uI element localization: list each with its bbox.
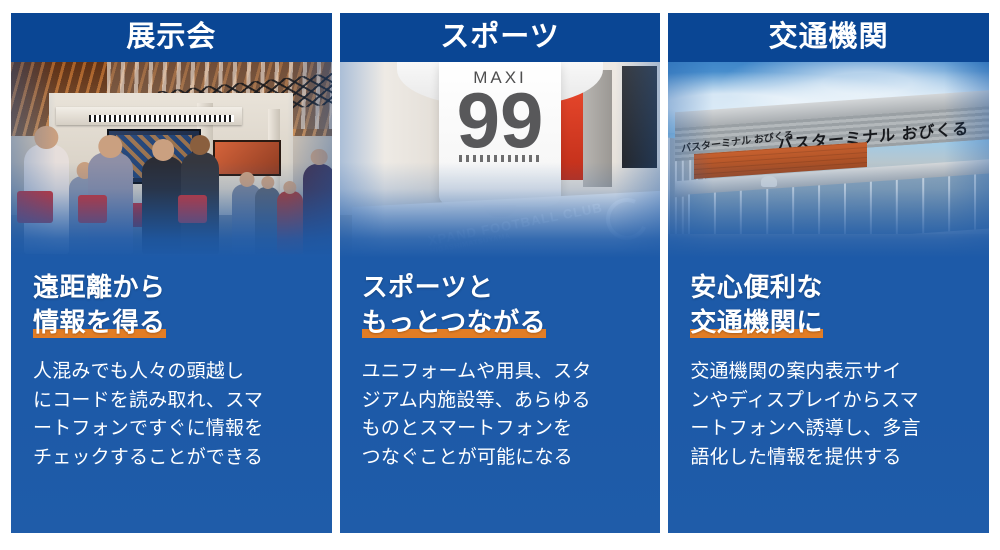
hall-visitor-head: [239, 172, 254, 187]
headline-line-highlighted: 交通機関に: [690, 307, 823, 338]
headline-line: 安心便利な: [690, 270, 967, 305]
description-line: 人混みでも人々の頭越し: [33, 358, 310, 387]
hall-visitor: [303, 164, 332, 254]
hall-display-screen-secondary: [213, 140, 281, 175]
description-line: にコードを読み取れ、スマ: [33, 387, 310, 416]
terminal-lamp-icon: [761, 176, 777, 187]
description-line: ンやディスプレイからスマ: [690, 387, 967, 416]
description-line: ートフォンへ誘導し、多言: [690, 415, 967, 444]
card-headline: 遠距離から 情報を得る: [33, 270, 310, 340]
card-header-transportation: 交通機関: [668, 13, 989, 62]
description-line: ユニフォームや用具、スタ: [362, 358, 639, 387]
card-title: 展示会: [126, 23, 216, 52]
card-description: 人混みでも人々の頭越し にコードを読み取れ、スマ ートフォンですぐに情報を チェ…: [33, 358, 310, 474]
description-line: 語化した情報を提供する: [690, 444, 967, 473]
headline-line: スポーツと: [362, 270, 639, 305]
feature-card-sports[interactable]: スポーツ MAXI 99 XPAND FOOTBALL CLUB HIGASHI…: [340, 13, 661, 533]
card-description: 交通機関の案内表示サイ ンやディスプレイからスマ ートフォンへ誘導し、多言 語化…: [690, 358, 967, 474]
card-title: 交通機関: [769, 23, 889, 52]
hall-gate-sign: [56, 107, 242, 125]
description-line: 交通機関の案内表示サイ: [690, 358, 967, 387]
hall-visitor: [277, 191, 303, 254]
card-photo-transportation: バスターミナル おびくる バスターミナル おびくる: [668, 62, 989, 258]
terminal-pavement: [668, 234, 989, 258]
hall-visitor-head: [35, 126, 58, 149]
card-body-exhibition: 遠距離から 情報を得る 人混みでも人々の頭越し にコードを読み取れ、スマ ートフ…: [11, 258, 332, 533]
card-description: ユニフォームや用具、スタ ジアム内施設等、あらゆる ものとスマートフォンを つな…: [362, 358, 639, 474]
card-header-exhibition: 展示会: [11, 13, 332, 62]
headline-line-highlighted: 情報を得る: [33, 307, 166, 338]
headline-line-highlighted: もっとつながる: [362, 307, 546, 338]
football-jersey-illustration: MAXI 99 XPAND FOOTBALL CLUB HIGASHIMATSU…: [340, 62, 661, 258]
description-line: つなぐことが可能になる: [362, 444, 639, 473]
jersey-display-case: [622, 66, 657, 168]
description-line: ジアム内施設等、あらゆる: [362, 387, 639, 416]
headline-line: 遠距離から: [33, 270, 310, 305]
hall-visitor-head: [310, 149, 327, 166]
card-headline: スポーツと もっとつながる: [362, 270, 639, 340]
card-header-sports: スポーツ: [340, 13, 661, 62]
description-line: ものとスマートフォンを: [362, 415, 639, 444]
card-title: スポーツ: [440, 23, 559, 52]
jersey-shirt: MAXI 99: [439, 62, 561, 207]
feature-card-exhibition[interactable]: 展示会: [11, 13, 332, 533]
exhibition-hall-illustration: [11, 62, 332, 258]
hall-visitor-bag: [178, 195, 207, 222]
jersey-number-label: 99: [439, 81, 561, 159]
hall-visitor-bag: [17, 191, 52, 222]
card-body-transportation: 安心便利な 交通機関に 交通機関の案内表示サイ ンやディスプレイからスマ ートフ…: [668, 258, 989, 533]
bus-terminal-illustration: バスターミナル おびくる バスターミナル おびくる: [668, 62, 989, 258]
hall-visitor-bag: [78, 195, 107, 222]
card-photo-exhibition: [11, 62, 332, 258]
hall-visitor-head: [261, 176, 274, 189]
card-body-sports: スポーツと もっとつながる ユニフォームや用具、スタ ジアム内施設等、あらゆる …: [340, 258, 661, 533]
card-headline: 安心便利な 交通機関に: [690, 270, 967, 340]
hall-visitor-head: [99, 135, 122, 158]
hall-visitor-head: [152, 139, 174, 161]
description-line: チェックすることができる: [33, 444, 310, 473]
feature-card-transportation[interactable]: 交通機関 バスターミナル おびくる バスターミナル おびくる 安心便利な: [668, 13, 989, 533]
hall-visitor-head: [283, 181, 296, 194]
card-photo-sports: MAXI 99 XPAND FOOTBALL CLUB HIGASHIMATSU…: [340, 62, 661, 258]
hall-visitor-head: [190, 135, 210, 155]
feature-card-board: 展示会: [0, 0, 1000, 550]
jersey-chest-mark: [459, 155, 542, 162]
description-line: ートフォンですぐに情報を: [33, 415, 310, 444]
